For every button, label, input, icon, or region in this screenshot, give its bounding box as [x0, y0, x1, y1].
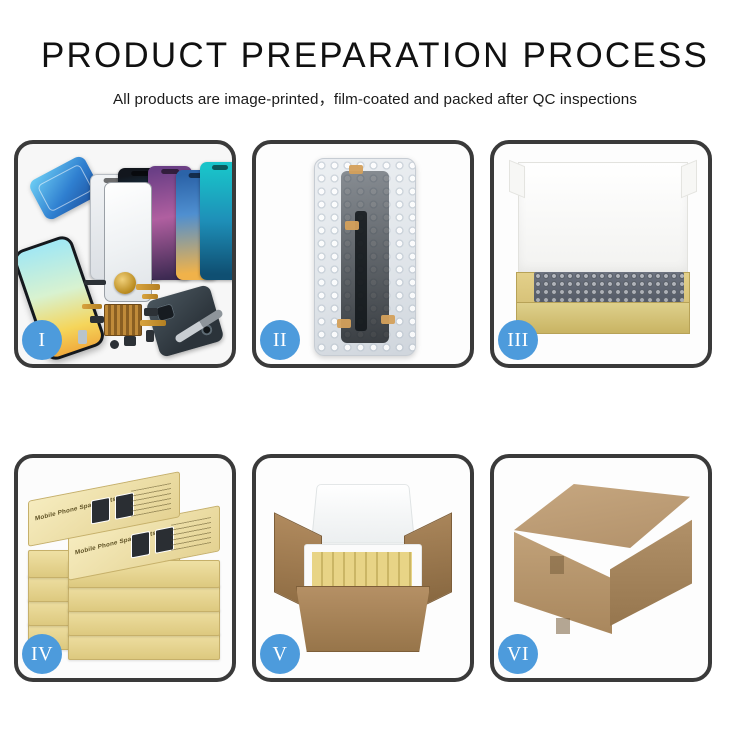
tape-piece — [337, 319, 351, 328]
step-panel-1: I — [14, 140, 236, 368]
chip-array-part — [104, 304, 142, 336]
small-part — [146, 330, 154, 342]
header: PRODUCT PREPARATION PROCESS All products… — [0, 0, 750, 109]
bubble-wrap-bag — [314, 158, 416, 356]
small-part — [124, 336, 136, 346]
step-panel-3: III — [490, 140, 712, 368]
page-title: PRODUCT PREPARATION PROCESS — [0, 38, 750, 75]
product-preparation-infographic: PRODUCT PREPARATION PROCESS All products… — [0, 0, 750, 750]
small-part — [84, 280, 106, 285]
box-lid-spec-text — [131, 483, 171, 517]
step-panel-2: II — [252, 140, 474, 368]
notch-icon — [131, 171, 149, 176]
tape-piece — [349, 165, 363, 174]
flex-cable-part — [136, 284, 160, 290]
step-badge-4: IV — [22, 634, 62, 674]
box-front-panel — [516, 302, 690, 334]
step-badge-1: I — [22, 320, 62, 360]
small-part — [90, 316, 104, 323]
flex-cable-part — [140, 320, 166, 326]
notch-icon — [212, 165, 228, 170]
step-badge-2: II — [260, 320, 300, 360]
small-part — [144, 308, 158, 316]
box-stack: Mobile Phone Spare Parts Mobile Phone Sp… — [28, 474, 224, 660]
step-panel-5: V — [252, 454, 474, 682]
process-steps-grid: I II III — [14, 140, 736, 682]
small-part — [78, 330, 87, 344]
flex-cable-part — [142, 294, 158, 299]
stacked-box — [68, 608, 220, 636]
box-lid-spec-text — [171, 517, 211, 551]
tape-piece — [345, 221, 359, 230]
speaker-coil-part — [114, 272, 136, 294]
tape-piece — [381, 315, 395, 324]
tape-patch — [556, 618, 570, 634]
box-lid-product-image — [131, 531, 150, 559]
flex-cable-part — [82, 304, 102, 309]
tape-patch — [550, 556, 564, 574]
stacked-box — [68, 584, 220, 612]
step-badge-6: VI — [498, 634, 538, 674]
box-lid-product-image — [91, 497, 110, 525]
stacked-box — [68, 632, 220, 660]
step-panel-6: VI — [490, 454, 712, 682]
small-part — [110, 340, 119, 349]
step-badge-3: III — [498, 320, 538, 360]
foam-lid — [311, 484, 415, 544]
page-subtitle: All products are image-printed，film-coat… — [0, 87, 750, 109]
phone-screen-5 — [200, 162, 232, 280]
step-badge-5: V — [260, 634, 300, 674]
box-lid — [518, 162, 688, 276]
step-panel-4: Mobile Phone Spare Parts Mobile Phone Sp… — [14, 454, 236, 682]
bubble-wrap-contents — [534, 272, 684, 302]
carton-body — [296, 586, 430, 652]
packed-boxes — [312, 552, 412, 586]
